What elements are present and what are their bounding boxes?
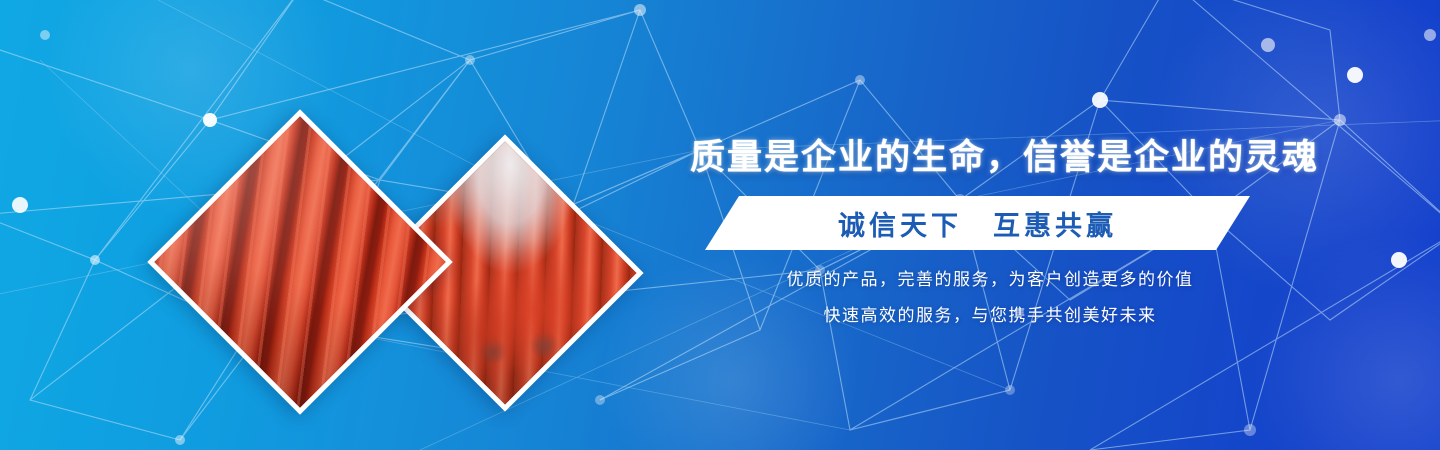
banner-subline-1: 优质的产品，完善的服务，为客户创造更多的价值 (690, 265, 1290, 290)
banner-headline: 质量是企业的生命，信誉是企业的灵魂 (690, 136, 1290, 180)
promo-banner: 质量是企业的生命，信誉是企业的灵魂 诚信天下 互惠共赢 优质的产品，完善的服务，… (0, 0, 1440, 450)
banner-subline-2: 快速高效的服务，与您携手共创美好未来 (690, 301, 1290, 326)
banner-text-block: 质量是企业的生命，信誉是企业的灵魂 诚信天下 互惠共赢 优质的产品，完善的服务，… (690, 0, 1290, 450)
slogan-ribbon-text: 诚信天下 互惠共赢 (705, 196, 1250, 250)
slogan-ribbon: 诚信天下 互惠共赢 (705, 196, 1250, 250)
